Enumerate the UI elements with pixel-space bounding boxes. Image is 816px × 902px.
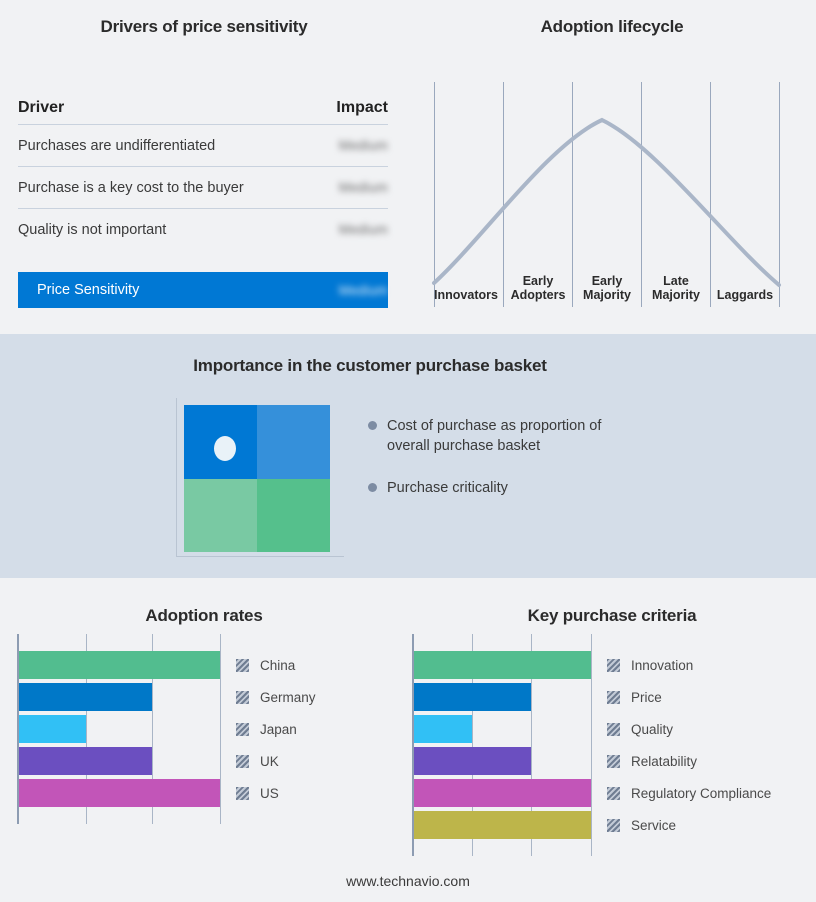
hatched-swatch-icon <box>607 691 620 704</box>
stage-label-innovators: Innovators <box>431 288 501 302</box>
legend-label: US <box>260 786 279 801</box>
hatched-swatch-icon <box>607 819 620 832</box>
impact-value: Medium <box>339 180 388 195</box>
basket-legend-label: Cost of purchase as proportion of overal… <box>387 416 637 456</box>
adoption-rates-chart: China Germany Japan UK US <box>0 634 408 834</box>
legend-item: Japan <box>236 720 297 738</box>
table-row: Purchase is a key cost to the buyer Medi… <box>18 167 388 209</box>
legend-item: China <box>236 656 295 674</box>
list-item: Purchase criticality <box>368 478 668 498</box>
legend-item: Service <box>607 816 676 834</box>
driver-label: Quality is not important <box>18 222 166 238</box>
legend-label: Quality <box>631 722 673 737</box>
quadrant-position-marker <box>214 436 236 461</box>
quadrant-axis-bottom <box>176 556 344 557</box>
bar-china <box>19 651 220 679</box>
quadrant-cell-top-right <box>257 405 330 479</box>
legend-item: Quality <box>607 720 673 738</box>
legend-item: Price <box>607 688 662 706</box>
legend-item: Innovation <box>607 656 693 674</box>
legend-label: Regulatory Compliance <box>631 786 771 801</box>
legend-item: UK <box>236 752 279 770</box>
basket-legend: Cost of purchase as proportion of overal… <box>368 416 668 520</box>
adoption-bell-curve <box>434 120 779 285</box>
gridline <box>591 634 592 856</box>
stage-label-late-majority: Late Majority <box>642 274 710 302</box>
bar-uk <box>19 747 152 775</box>
legend-label: China <box>260 658 295 673</box>
legend-item: Germany <box>236 688 316 706</box>
key-purchase-criteria-panel: Innovation Price Quality Relatability Re… <box>408 578 816 902</box>
basket-legend-label: Purchase criticality <box>387 478 508 498</box>
hatched-swatch-icon <box>236 755 249 768</box>
legend-item: Relatability <box>607 752 697 770</box>
gridline <box>220 634 221 824</box>
hatched-swatch-icon <box>607 755 620 768</box>
quadrant-grid <box>184 405 330 552</box>
bar-japan <box>19 715 86 743</box>
footer-url: www.technavio.com <box>0 873 816 889</box>
basket-title: Importance in the customer purchase bask… <box>0 356 740 376</box>
key-purchase-criteria-legend: Innovation Price Quality Relatability Re… <box>607 634 807 856</box>
price-sensitivity-impact: Medium <box>339 283 388 298</box>
table-header-row: Driver Impact <box>18 92 388 125</box>
legend-label: Relatability <box>631 754 697 769</box>
hatched-swatch-icon <box>607 723 620 736</box>
bar-innovation <box>414 651 591 679</box>
drivers-panel: Drivers of price sensitivity Driver Impa… <box>0 0 408 334</box>
lifecycle-panel: Innovators Early Adopters Early Majority… <box>408 0 816 334</box>
quadrant-cell-bottom-right <box>257 479 330 553</box>
legend-label: Price <box>631 690 662 705</box>
drivers-title: Drivers of price sensitivity <box>0 17 408 37</box>
bar-quality <box>414 715 472 743</box>
key-purchase-criteria-chart: Innovation Price Quality Relatability Re… <box>408 634 816 866</box>
bullet-icon <box>368 483 377 492</box>
legend-label: Innovation <box>631 658 693 673</box>
table-row: Quality is not important Medium <box>18 209 388 250</box>
legend-label: UK <box>260 754 279 769</box>
stage-label-early-adopters: Early Adopters <box>504 274 572 302</box>
impact-value: Medium <box>339 138 388 153</box>
quadrant-cell-bottom-left <box>184 479 257 553</box>
column-header-driver: Driver <box>18 99 64 117</box>
adoption-rates-panel: China Germany Japan UK US <box>0 578 408 902</box>
price-sensitivity-label: Price Sensitivity <box>37 282 139 298</box>
bar-price <box>414 683 531 711</box>
stage-label-laggards: Laggards <box>711 288 779 302</box>
legend-item: US <box>236 784 279 802</box>
bar-germany <box>19 683 152 711</box>
hatched-swatch-icon <box>236 691 249 704</box>
impact-value: Medium <box>339 222 388 237</box>
legend-label: Japan <box>260 722 297 737</box>
column-header-impact: Impact <box>336 99 388 117</box>
quadrant-axis-left <box>176 398 177 556</box>
list-item: Cost of purchase as proportion of overal… <box>368 416 668 456</box>
hatched-swatch-icon <box>607 787 620 800</box>
legend-item: Regulatory Compliance <box>607 784 771 802</box>
table-row: Purchases are undifferentiated Medium <box>18 125 388 167</box>
drivers-table: Driver Impact Purchases are undifferenti… <box>18 92 388 250</box>
bar-service <box>414 811 591 839</box>
infographic-page: Drivers of price sensitivity Driver Impa… <box>0 0 816 902</box>
stage-label-early-majority: Early Majority <box>573 274 641 302</box>
bar-regulatory-compliance <box>414 779 591 807</box>
hatched-swatch-icon <box>607 659 620 672</box>
bar-us <box>19 779 220 807</box>
hatched-swatch-icon <box>236 723 249 736</box>
driver-label: Purchases are undifferentiated <box>18 138 215 154</box>
legend-label: Germany <box>260 690 316 705</box>
purchase-basket-quadrant <box>176 398 344 563</box>
price-sensitivity-summary-row: Price Sensitivity Medium <box>18 272 388 308</box>
bullet-icon <box>368 421 377 430</box>
adoption-rates-legend: China Germany Japan UK US <box>236 634 396 824</box>
driver-label: Purchase is a key cost to the buyer <box>18 180 244 196</box>
hatched-swatch-icon <box>236 787 249 800</box>
legend-label: Service <box>631 818 676 833</box>
hatched-swatch-icon <box>236 659 249 672</box>
bar-relatability <box>414 747 531 775</box>
